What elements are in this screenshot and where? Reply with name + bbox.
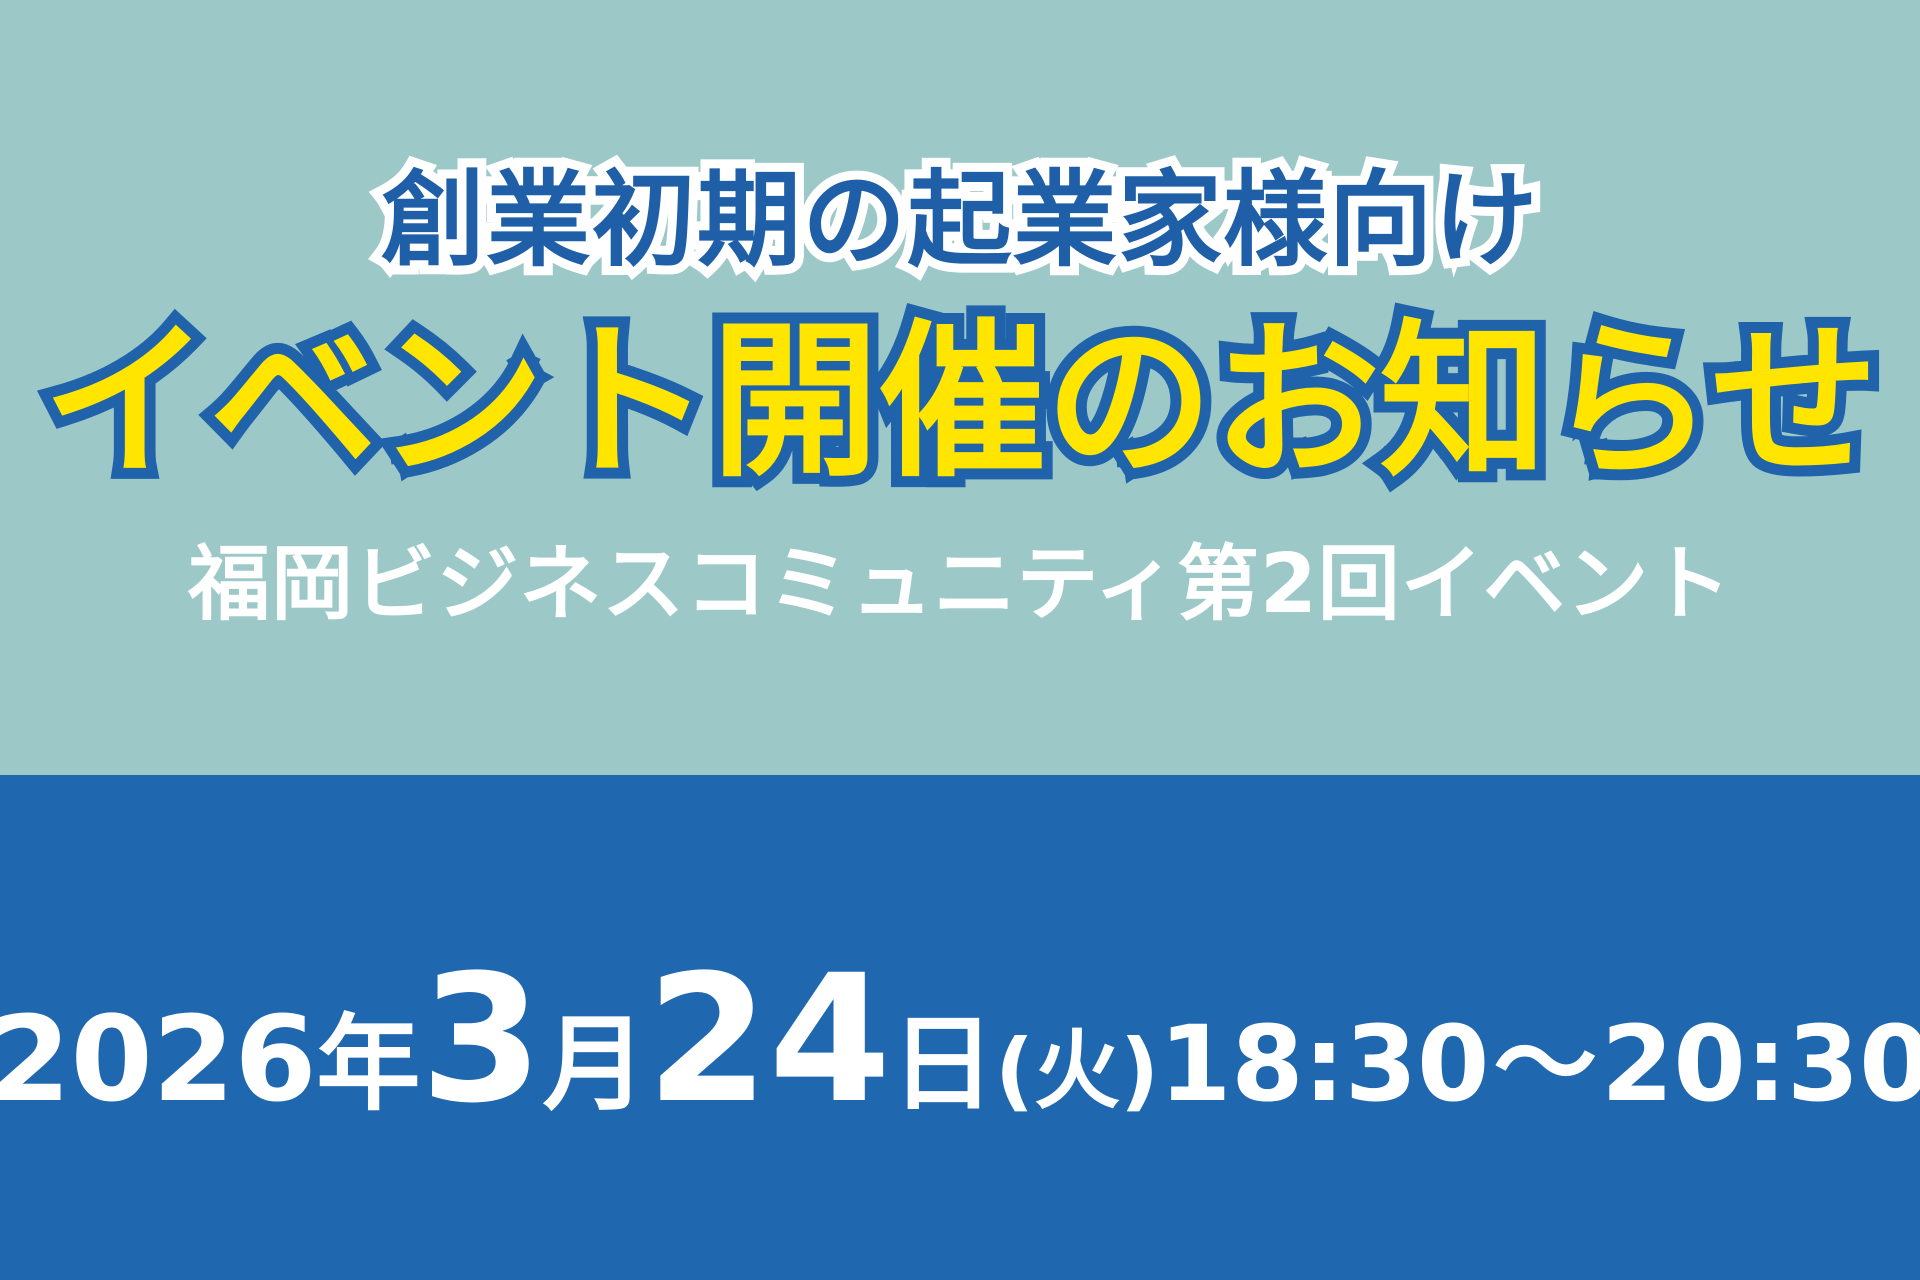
date-year-label: 年 xyxy=(316,979,420,1130)
time-range-mark: 〜 xyxy=(1489,979,1601,1130)
date-year: 2026 xyxy=(0,990,316,1128)
date-day: 24 xyxy=(646,970,891,1111)
date-month-label: 月 xyxy=(543,979,647,1130)
page-title: イベント開催のお知らせ xyxy=(42,318,1877,486)
start-time: 18:30 xyxy=(1159,1003,1489,1125)
date-month: 3 xyxy=(420,970,542,1111)
date-day-of-week: (火) xyxy=(995,1000,1159,1125)
eyebrow-text: 創業初期の起業家様向け xyxy=(381,168,1539,272)
event-datetime: 2026 年 3 月 24 日 (火) 18:30 〜 20:30 xyxy=(0,970,1920,1130)
date-band: 2026 年 3 月 24 日 (火) 18:30 〜 20:30 xyxy=(0,775,1920,1280)
subtitle-text: 福岡ビジネスコミュニティ第2回イベント xyxy=(188,544,1732,626)
banner-upper-panel: 創業初期の起業家様向け イベント開催のお知らせ 福岡ビジネスコミュニティ第2回イ… xyxy=(0,0,1920,775)
date-day-label: 日 xyxy=(891,979,995,1130)
event-announcement-banner: 創業初期の起業家様向け イベント開催のお知らせ 福岡ビジネスコミュニティ第2回イ… xyxy=(0,0,1920,1280)
end-time: 20:30 xyxy=(1601,1003,1920,1125)
